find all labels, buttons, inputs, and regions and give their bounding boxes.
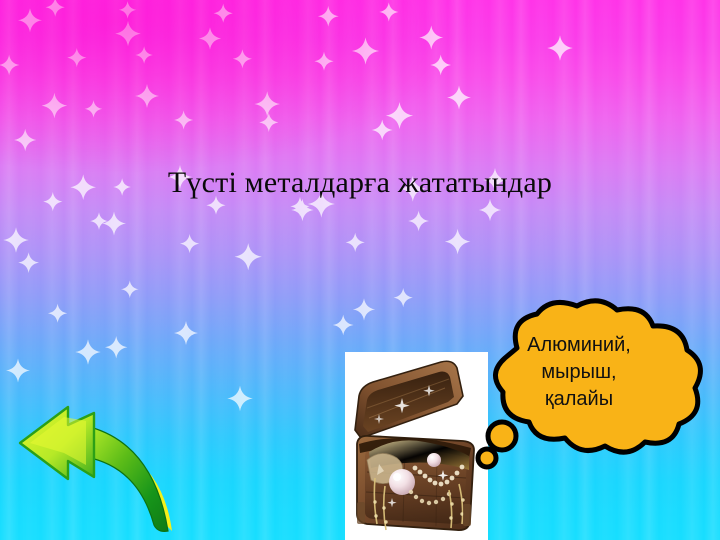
bubble-line-2: мырыш,: [489, 359, 669, 386]
bubble-line-3: қалайы: [489, 386, 669, 413]
thought-bubble: Алюминий, мырыш, қалайы: [465, 296, 710, 481]
thought-bubble-text: Алюминий, мырыш, қалайы: [489, 332, 669, 413]
back-arrow-button[interactable]: [12, 405, 192, 540]
presentation-slide: Түсті металдарға жататындар: [0, 0, 720, 540]
page-title: Түсті металдарға жататындар: [0, 166, 720, 200]
bubble-line-1: Алюминий,: [489, 332, 669, 359]
